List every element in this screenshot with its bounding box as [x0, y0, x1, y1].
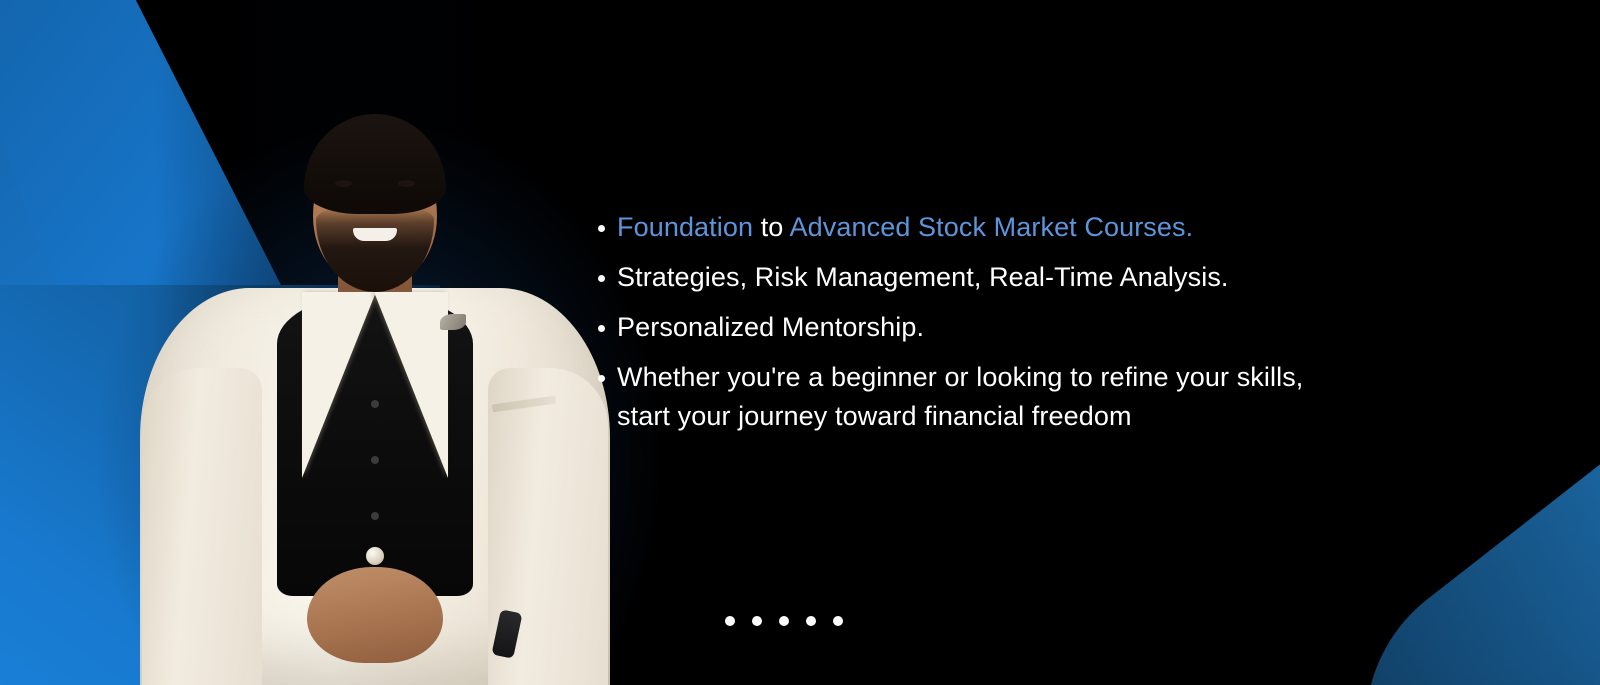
instructor-photo: [140, 100, 610, 685]
bullet-accent-text: Foundation: [617, 212, 753, 242]
blazer-sleeve-left: [142, 368, 262, 685]
carousel-dot-slide-5[interactable]: [833, 616, 843, 626]
shirt-button: [371, 512, 379, 520]
bullet-item-courses: Foundation to Advanced Stock Market Cour…: [595, 208, 1495, 247]
lapel-left: [302, 292, 376, 478]
smile: [353, 228, 397, 241]
lapel-pin-icon: [440, 314, 466, 330]
feature-bullet-list: Foundation to Advanced Stock Market Cour…: [595, 208, 1495, 436]
clasped-hands: [307, 567, 443, 663]
blazer-button: [366, 547, 384, 565]
hero-copy: Foundation to Advanced Stock Market Cour…: [595, 208, 1495, 436]
bullet-item-strategies: Strategies, Risk Management, Real-Time A…: [595, 258, 1495, 297]
bullet-accent-text: Advanced Stock Market Courses.: [790, 212, 1194, 242]
bullet-text: to: [753, 212, 789, 242]
bullet-text: Strategies, Risk Management, Real-Time A…: [617, 262, 1229, 292]
carousel-dot-slide-2[interactable]: [752, 616, 762, 626]
lapel-right: [374, 292, 448, 478]
bullet-text: Personalized Mentorship.: [617, 312, 924, 342]
carousel-dot-slide-4[interactable]: [806, 616, 816, 626]
bullet-item-journey: Whether you're a beginner or looking to …: [595, 358, 1495, 436]
carousel-dot-slide-3[interactable]: [779, 616, 789, 626]
hero-banner: Foundation to Advanced Stock Market Cour…: [0, 0, 1600, 685]
bullet-text: Whether you're a beginner or looking to …: [617, 362, 1303, 431]
eye-right: [398, 180, 415, 187]
carousel-dot-slide-1[interactable]: [725, 616, 735, 626]
carousel-dots[interactable]: [725, 616, 843, 626]
eye-left: [335, 180, 352, 187]
bullet-item-mentorship: Personalized Mentorship.: [595, 308, 1495, 347]
